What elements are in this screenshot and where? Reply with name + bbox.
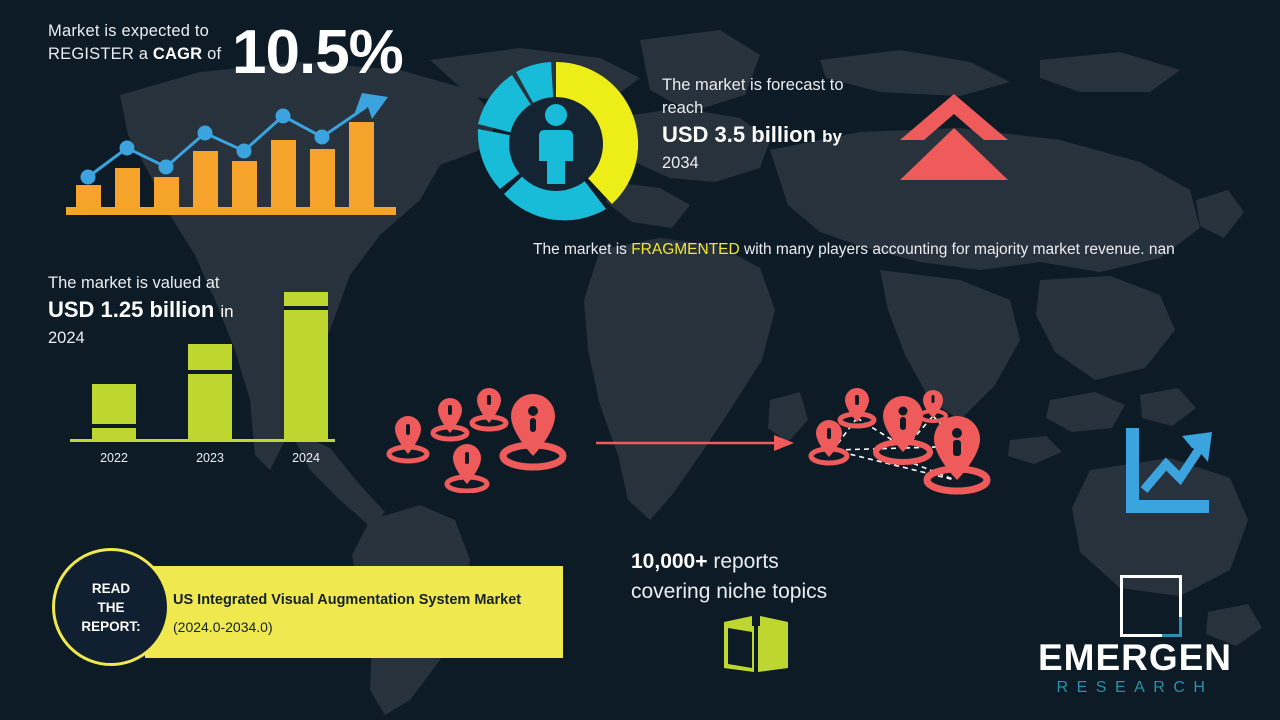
read-label-line-1: READ — [81, 579, 140, 598]
network-pin-5 — [927, 416, 987, 491]
scattered-pins-cluster — [385, 388, 580, 493]
map-pin-small-4 — [447, 444, 487, 491]
forecast-value-row: USD 3.5 billion by — [662, 120, 897, 152]
bar-2023-seam — [188, 370, 232, 374]
read-the-report-label: READ THE REPORT: — [81, 579, 140, 636]
fragmentation-suffix: with many players accounting for majorit… — [740, 241, 1175, 258]
logo-accent-corner — [1162, 617, 1182, 637]
network-pin-1 — [840, 388, 874, 426]
bar-2023 — [188, 344, 232, 440]
network-pin-2 — [811, 420, 847, 463]
growth-baseline — [66, 207, 396, 215]
connected-pins-network — [805, 388, 1005, 498]
read-label-line-3: REPORT: — [81, 617, 140, 636]
map-pin-small-2 — [433, 398, 467, 439]
fragmentation-highlight: FRAGMENTED — [631, 241, 740, 258]
network-pin-4 — [920, 390, 946, 421]
market-value-bar-chart: 2022 2023 2024 — [70, 290, 340, 475]
report-banner[interactable]: US Integrated Visual Augmentation System… — [145, 566, 563, 658]
bar-label-2022: 2022 — [92, 451, 136, 465]
reports-line-1-rest: reports — [708, 550, 779, 573]
infographic-canvas: Market is expected to REGISTER a CAGR of… — [0, 0, 1280, 720]
reports-line-2: covering niche topics — [631, 577, 827, 607]
cagr-line-2-prefix: REGISTER a — [48, 45, 153, 63]
forecast-line-2: reach — [662, 97, 897, 120]
read-the-report-button[interactable]: READ THE REPORT: — [52, 548, 170, 666]
report-period: (2024.0-2034.0) — [173, 619, 273, 635]
map-pin-small-1 — [389, 416, 427, 461]
bar-2024-seam — [284, 306, 328, 310]
transition-arrow-icon — [596, 432, 796, 454]
reports-count: 10,000+ — [631, 550, 708, 573]
bar-label-2024: 2024 — [284, 451, 328, 465]
growth-trend-chart — [66, 85, 416, 225]
market-share-donut — [466, 54, 646, 234]
cagr-value: 10.5% — [232, 22, 403, 84]
forecast-year: 2034 — [662, 152, 897, 174]
forecast-line-1: The market is forecast to — [662, 74, 897, 97]
map-pin-small-3 — [472, 388, 506, 429]
open-book-icon — [722, 612, 790, 674]
bar-2022 — [92, 384, 136, 440]
report-title: US Integrated Visual Augmentation System… — [173, 592, 521, 608]
bar-label-2023: 2023 — [188, 451, 232, 465]
bar-2022-seam — [92, 424, 136, 428]
growth-bars — [76, 122, 374, 207]
emergen-research-logo: EMERGEN RESEARCH — [1015, 575, 1255, 695]
forecast-text-block: The market is forecast to reach USD 3.5 … — [662, 74, 897, 174]
fragmentation-text: The market is FRAGMENTED with many playe… — [533, 238, 1208, 262]
read-label-line-2: THE — [81, 598, 140, 617]
growth-chart-icon — [1122, 428, 1214, 520]
green-chart-baseline — [70, 439, 335, 442]
network-pin-3 — [876, 396, 930, 462]
growth-arrow-head — [354, 93, 388, 119]
bar-2024 — [284, 292, 328, 440]
forecast-by: by — [822, 127, 842, 146]
reports-line-1: 10,000+ reports — [631, 547, 827, 577]
cagr-line-2-suffix: of — [202, 45, 221, 63]
logo-square-icon — [1120, 575, 1182, 637]
reports-text-block: 10,000+ reports covering niche topics — [631, 547, 827, 607]
upward-chevron-icon — [898, 92, 1010, 182]
cagr-keyword: CAGR — [153, 45, 202, 63]
map-pin-large — [503, 394, 563, 467]
forecast-value: USD 3.5 billion — [662, 122, 816, 147]
fragmentation-prefix: The market is — [533, 241, 631, 258]
logo-name: EMERGEN — [1015, 637, 1255, 679]
logo-subtitle: RESEARCH — [1015, 679, 1255, 697]
